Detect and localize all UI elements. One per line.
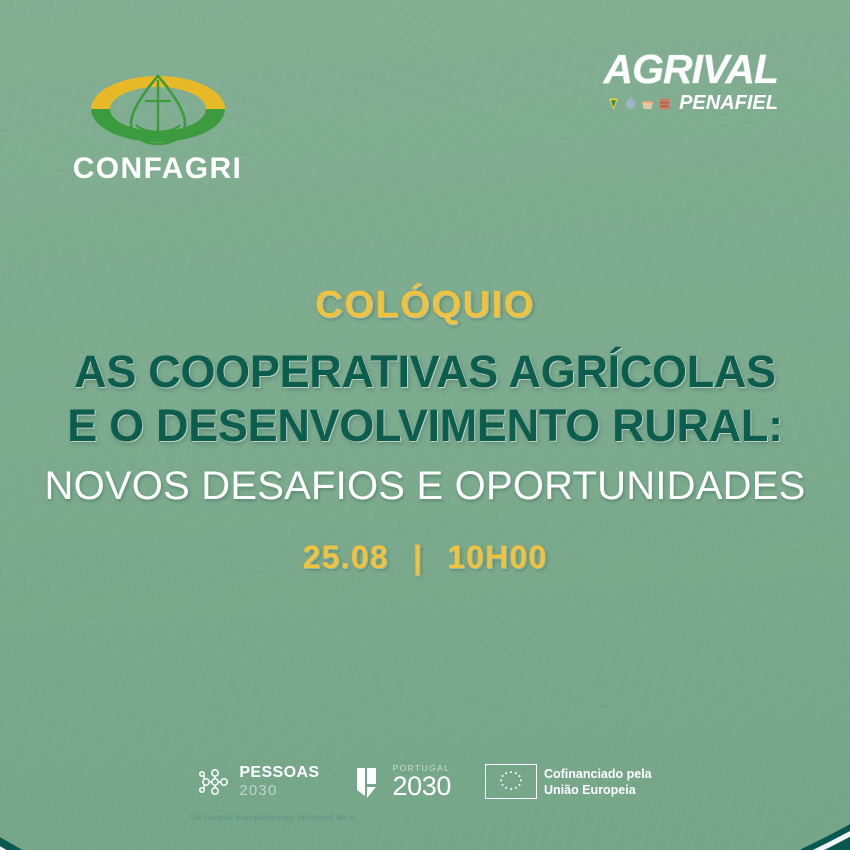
confagri-logo: CONFAGRI: [70, 68, 245, 184]
pessoas-network-icon: [198, 765, 232, 799]
confagri-oval-leaf-icon: [83, 68, 233, 150]
eu-line-2: União Europeia: [544, 782, 652, 798]
agrival-sub-row: PENAFIEL: [604, 92, 778, 115]
circle-icon: [624, 96, 637, 111]
grape-icon: [607, 96, 620, 111]
event-datetime: 25.08 | 10H00: [0, 539, 850, 576]
basket-icon: [641, 96, 654, 111]
footer: PESSOAS 2030 PORTUGAL 2030: [0, 764, 850, 823]
eu-cofinancing-logo: Cofinanciado pela União Europeia: [485, 764, 652, 799]
confagri-wordmark: CONFAGRI: [70, 154, 245, 184]
event-title: AS COOPERATIVAS AGRÍCOLAS E O DESENVOLVI…: [0, 345, 850, 452]
datetime-separator: |: [399, 539, 437, 576]
main-content: COLÓQUIO AS COOPERATIVAS AGRÍCOLAS E O D…: [0, 286, 850, 576]
portugal-mark-icon: [354, 764, 386, 800]
pessoas-label: PESSOAS: [239, 765, 319, 781]
agrival-wordmark: AGRIVAL: [604, 50, 778, 89]
footer-tagline: Os Fundos Europeus mais próximos de si: [0, 812, 850, 822]
portugal-2030-text: PORTUGAL 2030: [393, 764, 451, 801]
pessoas-2030-text: PESSOAS 2030: [239, 765, 319, 798]
footer-logo-row: PESSOAS 2030 PORTUGAL 2030: [0, 764, 850, 801]
eu-line-1: Cofinanciado pela: [544, 766, 652, 782]
event-subtitle: NOVOS DESAFIOS E OPORTUNIDADES: [0, 463, 850, 509]
poster-canvas: CONFAGRI AGRIVAL: [0, 0, 850, 850]
event-time: 10H00: [447, 539, 547, 575]
agrival-product-icons: [607, 96, 671, 111]
eu-flag-icon: [485, 764, 537, 799]
crate-icon: [658, 96, 671, 111]
event-date: 25.08: [303, 539, 389, 575]
pessoas-2030-logo: PESSOAS 2030: [198, 765, 319, 799]
agrival-location-label: PENAFIEL: [679, 92, 778, 115]
pessoas-year: 2030: [239, 783, 319, 798]
portugal-year: 2030: [393, 773, 451, 800]
event-title-line-1: AS COOPERATIVAS AGRÍCOLAS: [0, 345, 850, 399]
event-title-line-2: E O DESENVOLVIMENTO RURAL:: [0, 399, 850, 453]
portugal-2030-logo: PORTUGAL 2030: [354, 764, 451, 801]
event-kicker: COLÓQUIO: [0, 286, 850, 324]
eu-cofinancing-text: Cofinanciado pela União Europeia: [544, 766, 652, 799]
agrival-logo: AGRIVAL: [604, 50, 778, 115]
